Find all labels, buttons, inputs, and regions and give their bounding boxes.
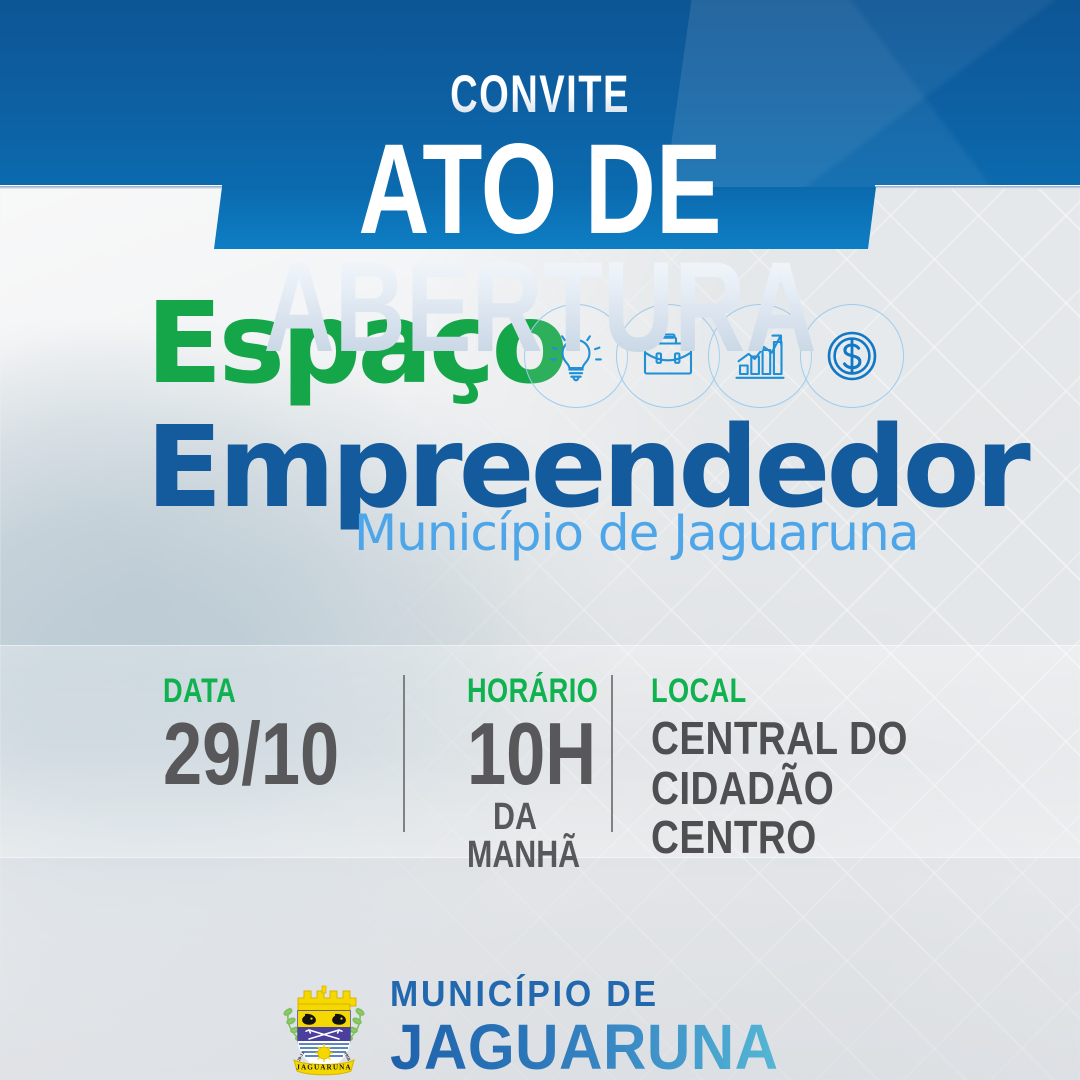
info-column-date: DATA 29/10 bbox=[163, 674, 383, 796]
place-value: CENTRAL DO CIDADÃO CENTRO bbox=[651, 714, 1011, 863]
date-label: DATA bbox=[163, 674, 339, 708]
time-label: HORÁRIO bbox=[467, 674, 563, 708]
event-info-row: DATA 29/10 HORÁRIO 10H DA MANHÃ LOCAL CE… bbox=[0, 645, 1080, 858]
date-value: 29/10 bbox=[163, 712, 339, 796]
header-text-group: CONVITE ATO DE ABERTURA bbox=[0, 0, 1080, 367]
place-label: LOCAL bbox=[651, 674, 994, 708]
invite-kicker: CONVITE bbox=[151, 68, 929, 121]
time-note: DA MANHÃ bbox=[467, 798, 563, 874]
time-value: 10H bbox=[467, 712, 563, 796]
footer-line-jaguaruna: JAGUARUNA bbox=[390, 1015, 779, 1079]
info-column-place: LOCAL CENTRAL DO CIDADÃO CENTRO bbox=[651, 674, 1080, 863]
logo-subtitle: Município de Jaguaruna bbox=[354, 508, 918, 558]
footer-line-municipio: MUNICÍPIO DE bbox=[390, 976, 779, 1012]
poster-headline: ATO DE ABERTURA bbox=[124, 131, 956, 367]
jaguaruna-coat-of-arms-icon: JAGUARUNA 20-12 1958 bbox=[276, 978, 372, 1078]
poster-canvas: CONVITE ATO DE ABERTURA Espaço bbox=[0, 0, 1080, 1080]
footer-brand: JAGUARUNA 20-12 1958 MUNICÍPIO DE JAGUAR… bbox=[0, 975, 1080, 1080]
crest-year-right: 1958 bbox=[343, 1051, 352, 1062]
crest-motto: JAGUARUNA bbox=[297, 1063, 352, 1071]
info-column-time: HORÁRIO 10H DA MANHÃ bbox=[455, 674, 575, 874]
logo-row-bottom: Empreendedor Município de Jaguaruna bbox=[146, 412, 966, 520]
footer-wordmark: MUNICÍPIO DE JAGUARUNA bbox=[390, 976, 803, 1079]
